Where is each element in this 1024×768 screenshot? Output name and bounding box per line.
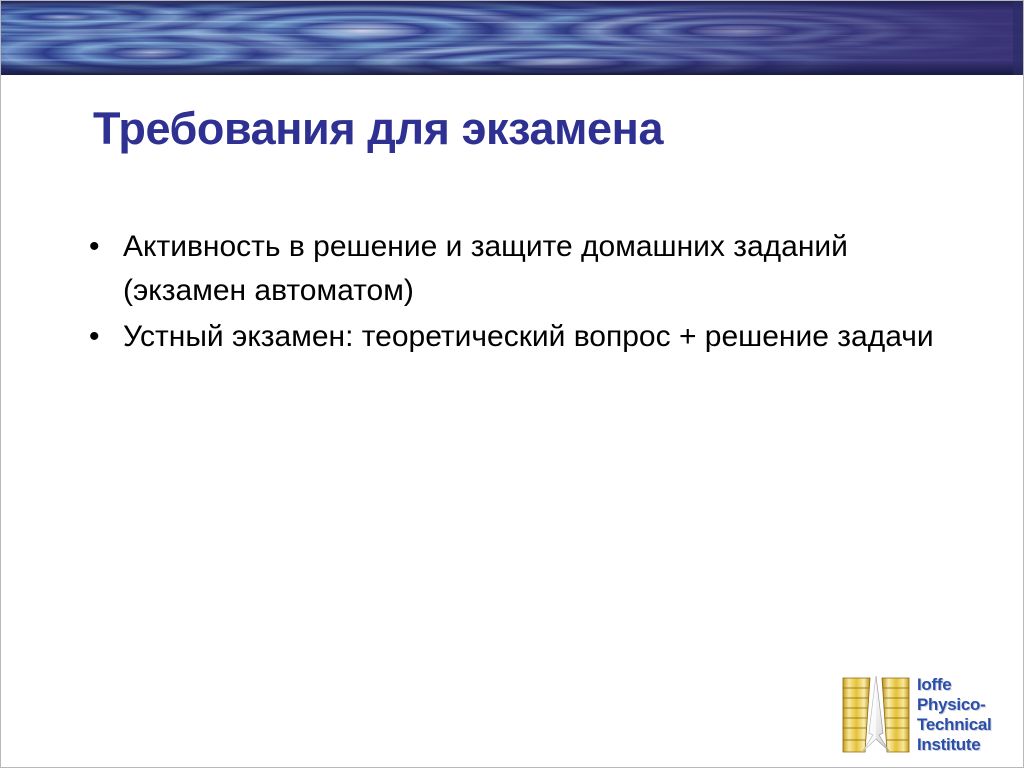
- logo-line-3: Technical: [917, 715, 991, 735]
- ioffe-institute-logo: Ioffe Physico- Technical Institute: [839, 672, 1009, 758]
- list-item: • Активность в решение и защите домашних…: [85, 225, 965, 313]
- bullet-point-icon: •: [85, 225, 123, 269]
- bullet-text: Активность в решение и защите домашних з…: [123, 225, 935, 313]
- header-ripple-banner: [1, 1, 1024, 75]
- ioffe-emblem-icon: [839, 673, 913, 757]
- ripple-pattern-graphic: [1, 1, 1024, 75]
- presentation-slide: Требования для экзамена • Активность в р…: [0, 0, 1024, 768]
- bullet-text: Устный экзамен: теоретический вопрос + р…: [123, 315, 965, 359]
- slide-title: Требования для экзамена: [93, 101, 953, 157]
- logo-line-1: Ioffe: [917, 675, 991, 695]
- logo-line-2: Physico-: [917, 695, 991, 715]
- logo-wordmark: Ioffe Physico- Technical Institute: [917, 675, 991, 755]
- logo-line-4: Institute: [917, 735, 991, 755]
- bullet-point-icon: •: [85, 315, 123, 359]
- slide-body-content: • Активность в решение и защите домашних…: [85, 225, 965, 361]
- list-item: • Устный экзамен: теоретический вопрос +…: [85, 315, 965, 359]
